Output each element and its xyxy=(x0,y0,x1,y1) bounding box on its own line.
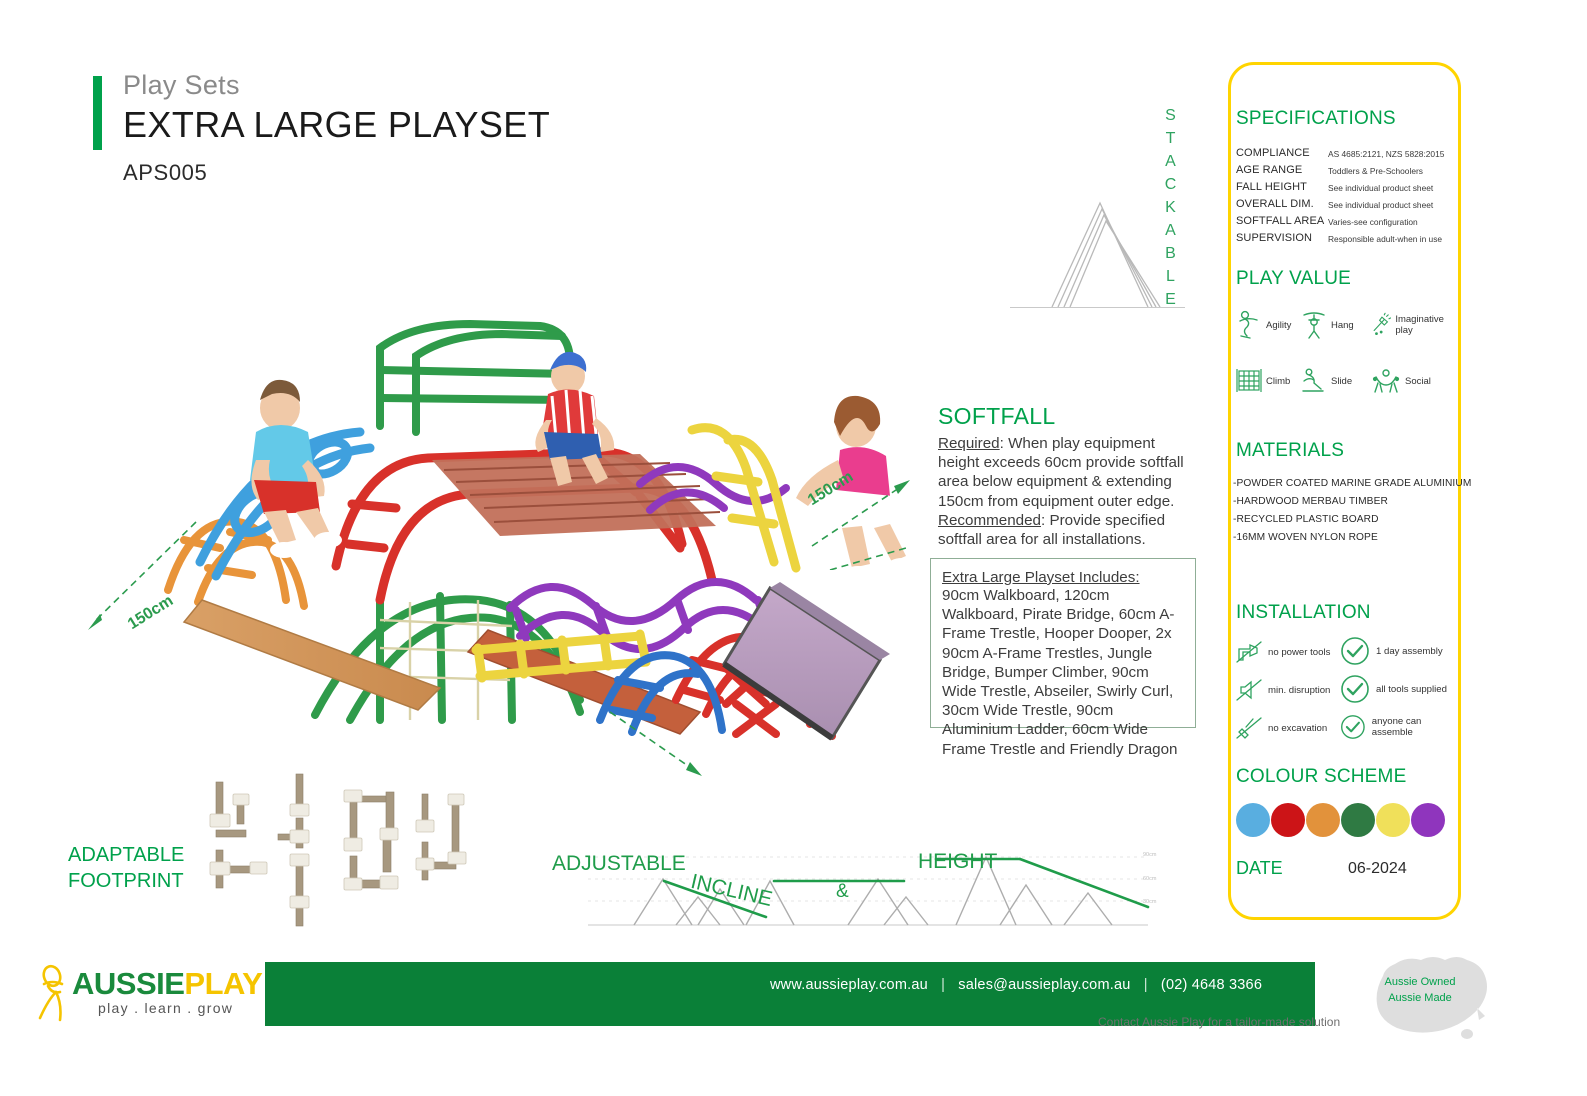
play-value-label: Hang xyxy=(1331,320,1354,331)
installation-item-min-disruption: min. disruption xyxy=(1236,678,1330,702)
softfall-body: Required: When play equipment height exc… xyxy=(938,434,1190,549)
social-icon xyxy=(1371,367,1401,395)
footer-tagline: Contact Aussie Play for a tailor-made so… xyxy=(1098,1015,1340,1029)
spec-value: See individual product sheet xyxy=(1328,183,1433,193)
check-circle-icon xyxy=(1340,712,1366,742)
materials-item: -RECYCLED PLASTIC BOARD xyxy=(1233,514,1379,525)
installation-item-1-day-assembly: 1 day assembly xyxy=(1340,636,1443,666)
header-accent-bar xyxy=(93,76,102,150)
play-value-item-slide: Slide xyxy=(1301,367,1352,395)
no-excavation-icon xyxy=(1236,716,1262,740)
stackable-letter: T xyxy=(1158,127,1184,150)
softfall-required-label: Required xyxy=(938,435,1000,452)
softfall-heading: SOFTFALL xyxy=(938,403,1190,430)
includes-body: 90cm Walkboard, 120cm Walkboard, Pirate … xyxy=(942,586,1184,759)
check-circle-icon xyxy=(1340,674,1370,704)
materials-item: -16MM WOVEN NYLON ROPE xyxy=(1233,532,1378,543)
softfall-recommended-label: Recommended xyxy=(938,512,1041,529)
aussie-owned-line1: Aussie Owned xyxy=(1360,976,1480,988)
page-title: EXTRA LARGE PLAYSET xyxy=(123,104,550,146)
installation-item-anyone-can-assemble: anyone can assemble xyxy=(1340,712,1452,742)
logo-wordmark: AUSSIEPLAY xyxy=(72,966,262,1002)
adjustable-word-adjustable: ADJUSTABLE xyxy=(552,852,686,876)
slide-icon xyxy=(1301,367,1327,395)
materials-heading: MATERIALS xyxy=(1236,440,1344,462)
play-value-item-hang: Hang xyxy=(1301,310,1354,340)
no-power-tools-icon xyxy=(1236,640,1262,664)
spec-sheet-page: Play Sets EXTRA LARGE PLAYSET APS005 S T… xyxy=(0,0,1587,1096)
imaginative-play-icon xyxy=(1371,310,1391,340)
adjustable-tick-label: 30cm xyxy=(1143,899,1156,905)
spec-key: SOFTFALL AREA xyxy=(1236,215,1324,227)
installation-item-no-excavation: no excavation xyxy=(1236,716,1327,740)
specifications-heading: SPECIFICATIONS xyxy=(1236,108,1396,130)
colour-swatch-orange xyxy=(1306,803,1340,837)
play-value-label: Imaginative play xyxy=(1395,314,1449,336)
stackable-letter: S xyxy=(1158,104,1184,127)
installation-label: no power tools xyxy=(1268,647,1330,658)
play-value-label: Agility xyxy=(1266,320,1291,331)
colour-swatch-yellow xyxy=(1376,803,1410,837)
spec-key: FALL HEIGHT xyxy=(1236,181,1307,193)
installation-label: 1 day assembly xyxy=(1376,646,1443,657)
logo-part-play: PLAY xyxy=(184,966,262,1001)
softfall-arrow-right xyxy=(790,460,920,570)
spec-key: OVERALL DIM. xyxy=(1236,198,1314,210)
play-value-label: Social xyxy=(1405,376,1431,387)
footer-website[interactable]: www.aussieplay.com.au xyxy=(770,977,928,993)
aussie-owned-line2: Aussie Made xyxy=(1360,992,1480,1004)
includes-box: Extra Large Playset Includes: 90cm Walkb… xyxy=(930,558,1196,728)
spec-key: COMPLIANCE xyxy=(1236,147,1310,159)
materials-item: -HARDWOOD MERBAU TIMBER xyxy=(1233,496,1388,507)
play-value-item-agility: Agility xyxy=(1236,310,1291,340)
play-value-item-social: Social xyxy=(1371,367,1431,395)
installation-label: anyone can assemble xyxy=(1372,716,1452,738)
stackable-letter: C xyxy=(1158,173,1184,196)
footprint-configurations-diagram xyxy=(200,770,500,930)
installation-label: no excavation xyxy=(1268,723,1327,734)
category-label: Play Sets xyxy=(123,70,240,101)
date-label: DATE xyxy=(1236,858,1283,879)
adjustable-tick-label: 90cm xyxy=(1143,852,1156,858)
materials-item: -POWDER COATED MARINE GRADE ALUMINIUM xyxy=(1233,478,1471,489)
installation-label: all tools supplied xyxy=(1376,684,1447,695)
play-value-item-imaginative: Imaginative play xyxy=(1371,310,1449,340)
footer-phone[interactable]: (02) 4648 3366 xyxy=(1161,977,1262,993)
spec-value: Varies-see configuration xyxy=(1328,217,1418,227)
check-circle-icon xyxy=(1340,636,1370,666)
adjustable-word-height: HEIGHT xyxy=(918,850,997,874)
play-value-item-climb: Climb xyxy=(1236,367,1290,395)
no-noise-icon xyxy=(1236,678,1262,702)
installation-item-no-power-tools: no power tools xyxy=(1236,640,1330,664)
hang-icon xyxy=(1301,310,1327,340)
stackable-trestles-diagram xyxy=(1040,195,1170,310)
colour-scheme-heading: COLOUR SCHEME xyxy=(1236,766,1406,788)
logo-tagline: play . learn . grow xyxy=(98,1000,233,1016)
spec-value: Toddlers & Pre-Schoolers xyxy=(1328,166,1423,176)
play-value-label: Slide xyxy=(1331,376,1352,387)
adjustable-word-amp: & xyxy=(836,881,849,903)
colour-swatch-purple xyxy=(1411,803,1445,837)
agility-icon xyxy=(1236,310,1262,340)
adjustable-tick-label: 60cm xyxy=(1143,876,1156,882)
spec-value: AS 4685:2121, NZS 5828:2015 xyxy=(1328,149,1444,159)
footer-separator: | xyxy=(932,977,954,993)
adaptable-line1: ADAPTABLE xyxy=(68,844,184,866)
installation-item-all-tools-supplied: all tools supplied xyxy=(1340,674,1447,704)
adaptable-line2: FOOTPRINT xyxy=(68,870,184,892)
footer-separator: | xyxy=(1135,977,1157,993)
play-value-label: Climb xyxy=(1266,376,1290,387)
softfall-section: SOFTFALL Required: When play equipment h… xyxy=(938,403,1190,549)
spec-value: Responsible adult-when in use xyxy=(1328,234,1442,244)
spec-key: SUPERVISION xyxy=(1236,232,1312,244)
colour-swatch-red xyxy=(1271,803,1305,837)
stackable-letter: A xyxy=(1158,150,1184,173)
spec-key: AGE RANGE xyxy=(1236,164,1302,176)
stackable-baseline xyxy=(1010,307,1185,308)
installation-label: min. disruption xyxy=(1268,685,1330,696)
adaptable-footprint-heading: ADAPTABLE FOOTPRINT xyxy=(68,842,184,894)
climb-icon xyxy=(1236,367,1262,395)
spec-value: See individual product sheet xyxy=(1328,200,1433,210)
footer-email[interactable]: sales@aussieplay.com.au xyxy=(958,977,1130,993)
includes-title: Extra Large Playset Includes: xyxy=(942,569,1184,586)
colour-swatch-green xyxy=(1341,803,1375,837)
colour-swatch-blue xyxy=(1236,803,1270,837)
installation-heading: INSTALLATION xyxy=(1236,602,1371,624)
softfall-arrow-bottom xyxy=(600,700,720,790)
footer-contact: www.aussieplay.com.au | sales@aussieplay… xyxy=(770,977,1262,993)
date-value: 06-2024 xyxy=(1348,860,1407,878)
play-value-heading: PLAY VALUE xyxy=(1236,268,1351,290)
product-code: APS005 xyxy=(123,160,207,186)
logo-part-aussie: AUSSIE xyxy=(72,966,184,1001)
